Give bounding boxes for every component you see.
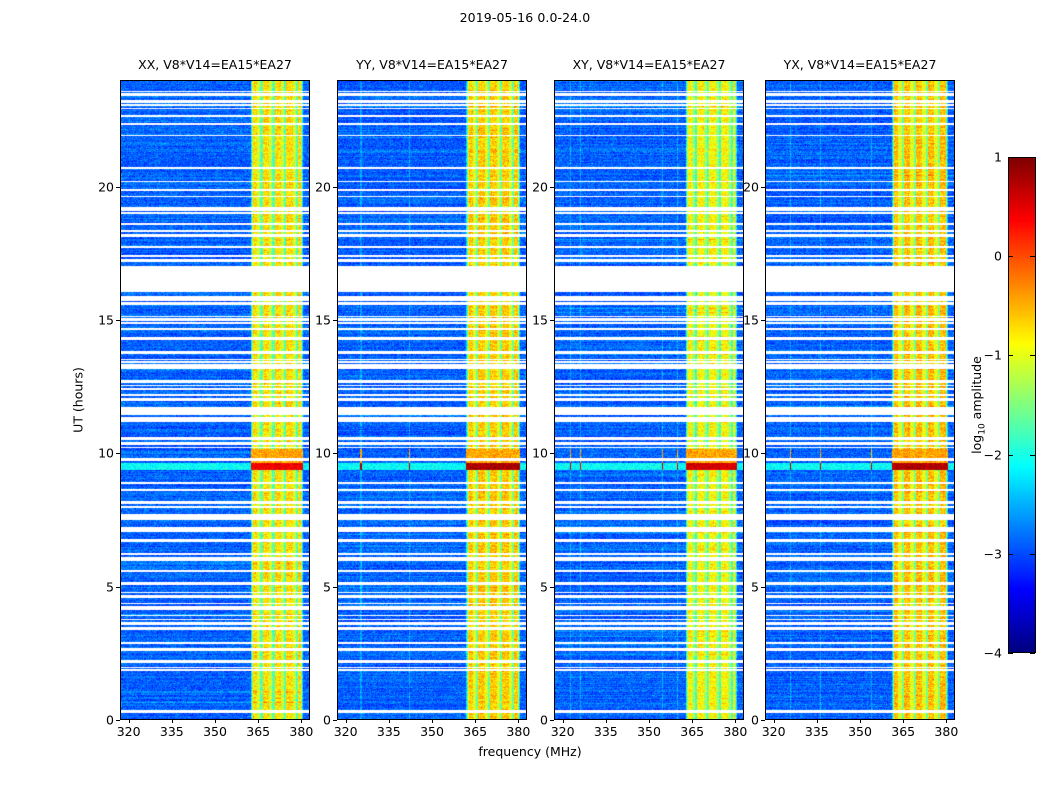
y-axis-label: UT (hours) <box>71 367 86 433</box>
x-tick-mark <box>389 719 390 723</box>
x-tick-label: 320 <box>334 724 358 739</box>
y-tick-mark <box>116 187 120 188</box>
y-tick-mark <box>116 453 120 454</box>
y-tick-label: 10 <box>735 446 759 461</box>
y-tick-mark <box>550 320 554 321</box>
y-tick-label: 15 <box>524 313 548 328</box>
x-axis-label: frequency (MHz) <box>120 744 940 759</box>
colorbar-tick-label: −1 <box>968 348 1002 363</box>
panel-xy: XY, V8*V14=EA15*EA27 <box>554 80 744 720</box>
panel-frame-xy <box>554 80 744 720</box>
y-tick-label: 20 <box>524 179 548 194</box>
x-tick-mark <box>946 719 947 723</box>
y-tick-mark <box>116 587 120 588</box>
colorbar-tick-label: 0 <box>968 249 1002 264</box>
y-tick-label: 5 <box>735 579 759 594</box>
y-tick-mark <box>761 320 765 321</box>
y-tick-label: 20 <box>735 179 759 194</box>
colorbar-tick-mark <box>1030 157 1035 158</box>
y-tick-mark <box>761 453 765 454</box>
x-tick-label: 350 <box>637 724 661 739</box>
y-tick-mark <box>761 187 765 188</box>
panel-yx: YX, V8*V14=EA15*EA27 <box>765 80 955 720</box>
y-tick-label: 5 <box>307 579 331 594</box>
x-tick-mark <box>817 719 818 723</box>
x-tick-label: 335 <box>160 724 184 739</box>
figure-suptitle: 2019-05-16 0.0-24.0 <box>0 10 1050 25</box>
x-tick-mark <box>258 719 259 723</box>
colorbar-tick-mark <box>1030 455 1035 456</box>
y-tick-mark <box>333 587 337 588</box>
colorbar-tick-mark <box>1030 554 1035 555</box>
y-tick-label: 0 <box>735 713 759 728</box>
y-tick-label: 20 <box>307 179 331 194</box>
figure-canvas: 2019-05-16 0.0-24.0 XX, V8*V14=EA15*EA27… <box>0 0 1050 800</box>
y-tick-mark <box>333 320 337 321</box>
x-tick-label: 335 <box>377 724 401 739</box>
colorbar-tick-mark <box>1008 355 1013 356</box>
y-tick-mark <box>550 187 554 188</box>
panel-title-yx: YX, V8*V14=EA15*EA27 <box>784 57 937 72</box>
colorbar-tick-mark <box>1030 256 1035 257</box>
panel-title-yy: YY, V8*V14=EA15*EA27 <box>356 57 508 72</box>
y-tick-label: 15 <box>735 313 759 328</box>
colorbar-tick-label: −3 <box>968 546 1002 561</box>
colorbar-tick-mark <box>1008 554 1013 555</box>
y-tick-mark <box>550 587 554 588</box>
panel-title-xy: XY, V8*V14=EA15*EA27 <box>573 57 726 72</box>
panel-title-xx: XX, V8*V14=EA15*EA27 <box>138 57 292 72</box>
colorbar-tick-mark <box>1030 653 1035 654</box>
x-tick-mark <box>215 719 216 723</box>
x-tick-label: 320 <box>551 724 575 739</box>
y-tick-mark <box>761 720 765 721</box>
y-tick-label: 15 <box>307 313 331 328</box>
y-tick-mark <box>116 720 120 721</box>
x-tick-label: 350 <box>848 724 872 739</box>
x-tick-mark <box>563 719 564 723</box>
y-tick-label: 0 <box>524 713 548 728</box>
y-tick-mark <box>550 453 554 454</box>
y-tick-label: 0 <box>307 713 331 728</box>
x-tick-mark <box>903 719 904 723</box>
x-tick-mark <box>301 719 302 723</box>
y-tick-label: 0 <box>90 713 114 728</box>
x-tick-mark <box>475 719 476 723</box>
colorbar-tick-mark <box>1008 653 1013 654</box>
x-tick-mark <box>606 719 607 723</box>
y-tick-mark <box>333 453 337 454</box>
x-tick-label: 320 <box>117 724 141 739</box>
x-tick-label: 380 <box>934 724 958 739</box>
y-tick-label: 5 <box>524 579 548 594</box>
colorbar-tick-mark <box>1008 455 1013 456</box>
y-tick-label: 10 <box>524 446 548 461</box>
x-tick-label: 320 <box>762 724 786 739</box>
y-tick-mark <box>761 587 765 588</box>
colorbar-label: log10 amplitude <box>969 356 988 454</box>
y-tick-mark <box>333 187 337 188</box>
x-tick-mark <box>860 719 861 723</box>
colorbar-tick-mark <box>1008 157 1013 158</box>
colorbar-tick-mark <box>1008 256 1013 257</box>
x-tick-mark <box>172 719 173 723</box>
x-tick-mark <box>518 719 519 723</box>
colorbar-tick-label: 1 <box>968 150 1002 165</box>
y-tick-mark <box>116 320 120 321</box>
x-tick-mark <box>432 719 433 723</box>
y-tick-label: 10 <box>90 446 114 461</box>
x-tick-mark <box>649 719 650 723</box>
colorbar-tick-mark <box>1030 355 1035 356</box>
x-tick-label: 335 <box>805 724 829 739</box>
colorbar <box>1008 157 1036 653</box>
x-tick-mark <box>692 719 693 723</box>
y-tick-mark <box>333 720 337 721</box>
colorbar-tick-label: −2 <box>968 447 1002 462</box>
x-tick-mark <box>129 719 130 723</box>
x-tick-label: 365 <box>246 724 270 739</box>
x-tick-label: 350 <box>420 724 444 739</box>
x-tick-label: 365 <box>891 724 915 739</box>
panel-frame-yx <box>765 80 955 720</box>
x-tick-label: 365 <box>463 724 487 739</box>
panel-frame-yy <box>337 80 527 720</box>
y-tick-label: 10 <box>307 446 331 461</box>
y-tick-label: 20 <box>90 179 114 194</box>
colorbar-tick-label: −4 <box>968 646 1002 661</box>
x-tick-label: 350 <box>203 724 227 739</box>
x-tick-mark <box>774 719 775 723</box>
panel-yy: YY, V8*V14=EA15*EA27 <box>337 80 527 720</box>
panel-frame-xx <box>120 80 310 720</box>
y-tick-mark <box>550 720 554 721</box>
y-tick-label: 15 <box>90 313 114 328</box>
panel-xx: XX, V8*V14=EA15*EA27 <box>120 80 310 720</box>
x-tick-label: 335 <box>594 724 618 739</box>
x-tick-mark <box>346 719 347 723</box>
y-tick-label: 5 <box>90 579 114 594</box>
x-tick-label: 365 <box>680 724 704 739</box>
